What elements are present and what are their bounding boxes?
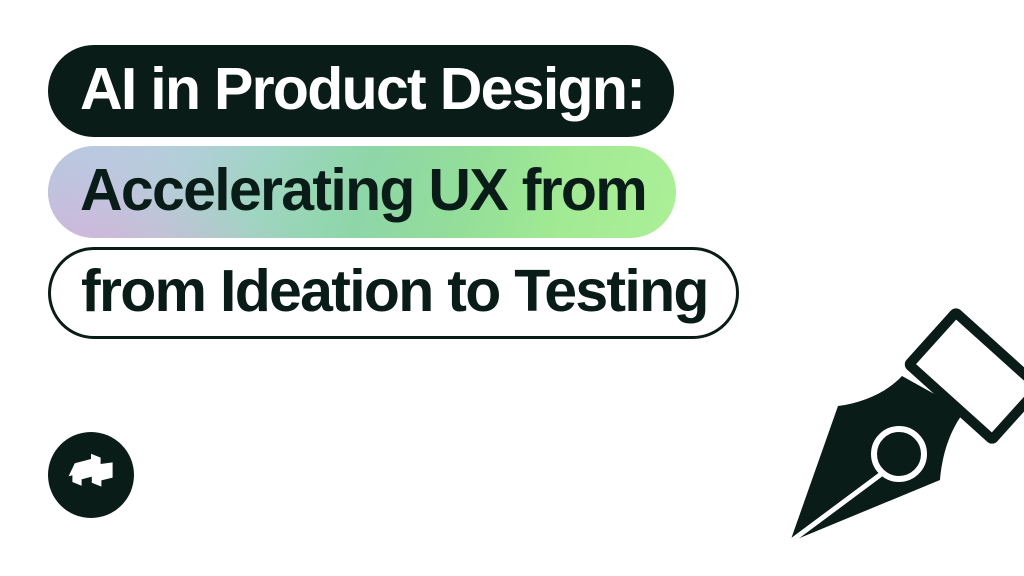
title-line-2-text: Accelerating UX from [80, 161, 646, 220]
title-line-3-pill: from Ideation to Testing [48, 247, 739, 339]
title-line-1-pill: AI in Product Design: [48, 45, 674, 137]
breather-hole [874, 429, 924, 479]
pen-nib-illustration [766, 305, 1024, 576]
brand-badge[interactable] [48, 432, 134, 518]
title-pill-stack: AI in Product Design: Accelerating UX fr… [48, 45, 739, 339]
title-line-3-text: from Ideation to Testing [81, 262, 708, 321]
slide-canvas: AI in Product Design: Accelerating UX fr… [0, 0, 1024, 576]
zigzag-flag-icon [67, 453, 115, 497]
title-line-2-pill: Accelerating UX from [48, 146, 676, 238]
title-line-1-text: AI in Product Design: [80, 60, 644, 119]
